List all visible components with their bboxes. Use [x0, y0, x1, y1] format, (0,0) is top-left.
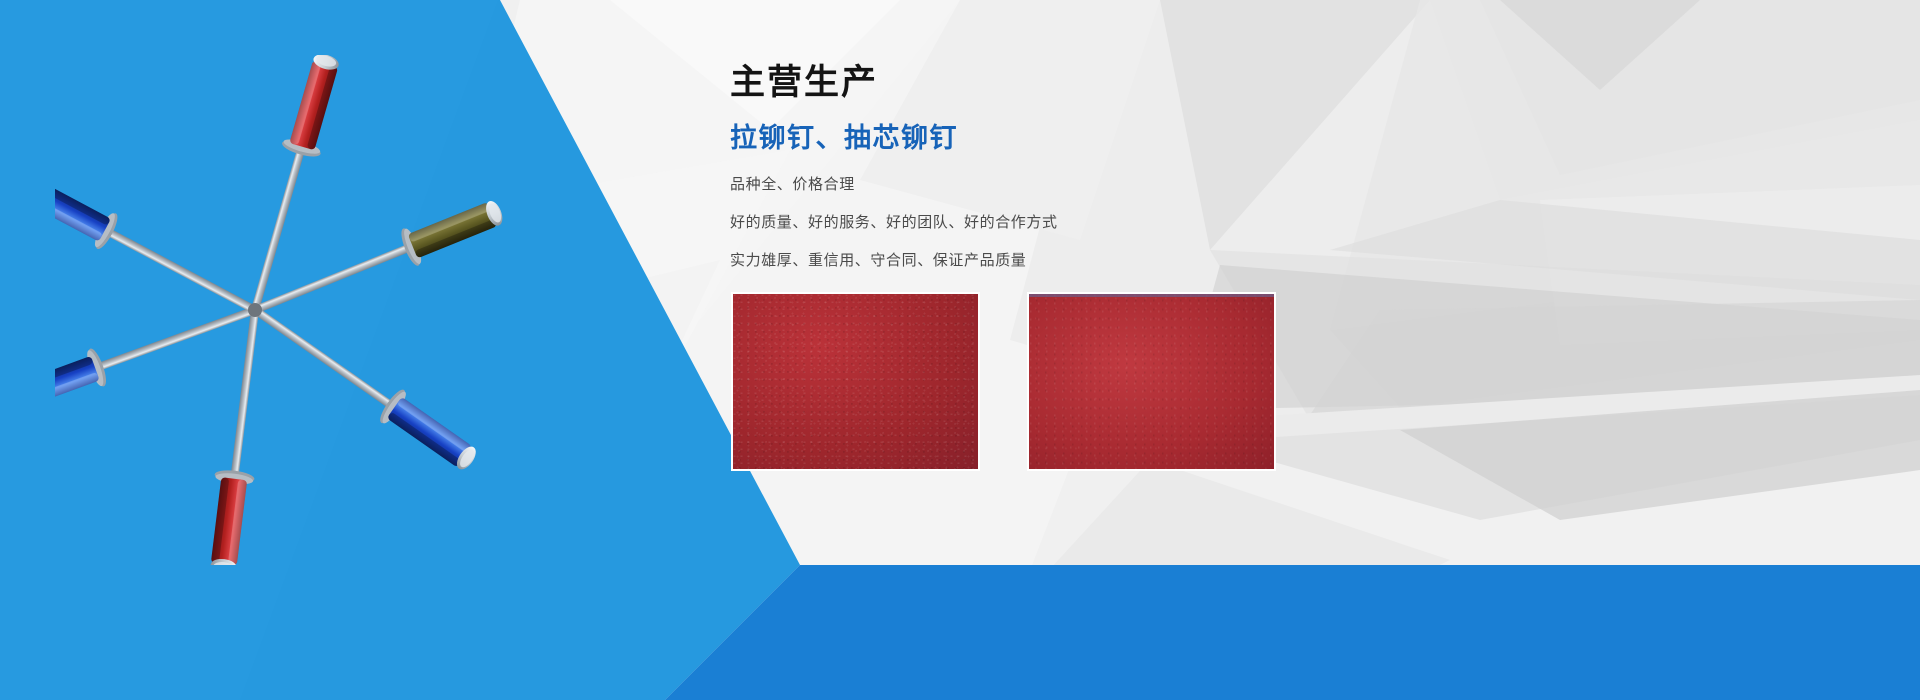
- hero-banner: 主营生产 拉铆钉、抽芯铆钉 品种全、价格合理 好的质量、好的服务、好的团队、好的…: [0, 0, 1920, 700]
- rivet-blue-lower-left: [55, 291, 262, 419]
- rivet-red-bottom: [203, 308, 275, 565]
- rivet-blue-lower-right: [244, 294, 484, 479]
- product-photo-row: [731, 292, 1276, 471]
- feature-line-3: 实力雄厚、重信用、守合同、保证产品质量: [730, 252, 1350, 271]
- photo-red-backdrop: [1029, 294, 1274, 469]
- feature-line-2: 好的质量、好的服务、好的团队、好的合作方式: [730, 214, 1350, 233]
- text-block: 主营生产 拉铆钉、抽芯铆钉 品种全、价格合理 好的质量、好的服务、好的团队、好的…: [730, 62, 1350, 271]
- photo-red-backdrop: [733, 294, 978, 469]
- page-subtitle: 拉铆钉、抽芯铆钉: [730, 122, 1350, 154]
- rivet-blue-upper-left: [55, 168, 264, 328]
- rivet-star-photo: [55, 55, 525, 565]
- page-title: 主营生产: [730, 62, 1350, 104]
- feature-line-1: 品种全、价格合理: [730, 176, 1350, 195]
- photo-top-edge: [1029, 294, 1274, 297]
- product-photo-mixed-rivets[interactable]: [1027, 292, 1276, 471]
- product-photo-red-rivets[interactable]: [731, 292, 980, 471]
